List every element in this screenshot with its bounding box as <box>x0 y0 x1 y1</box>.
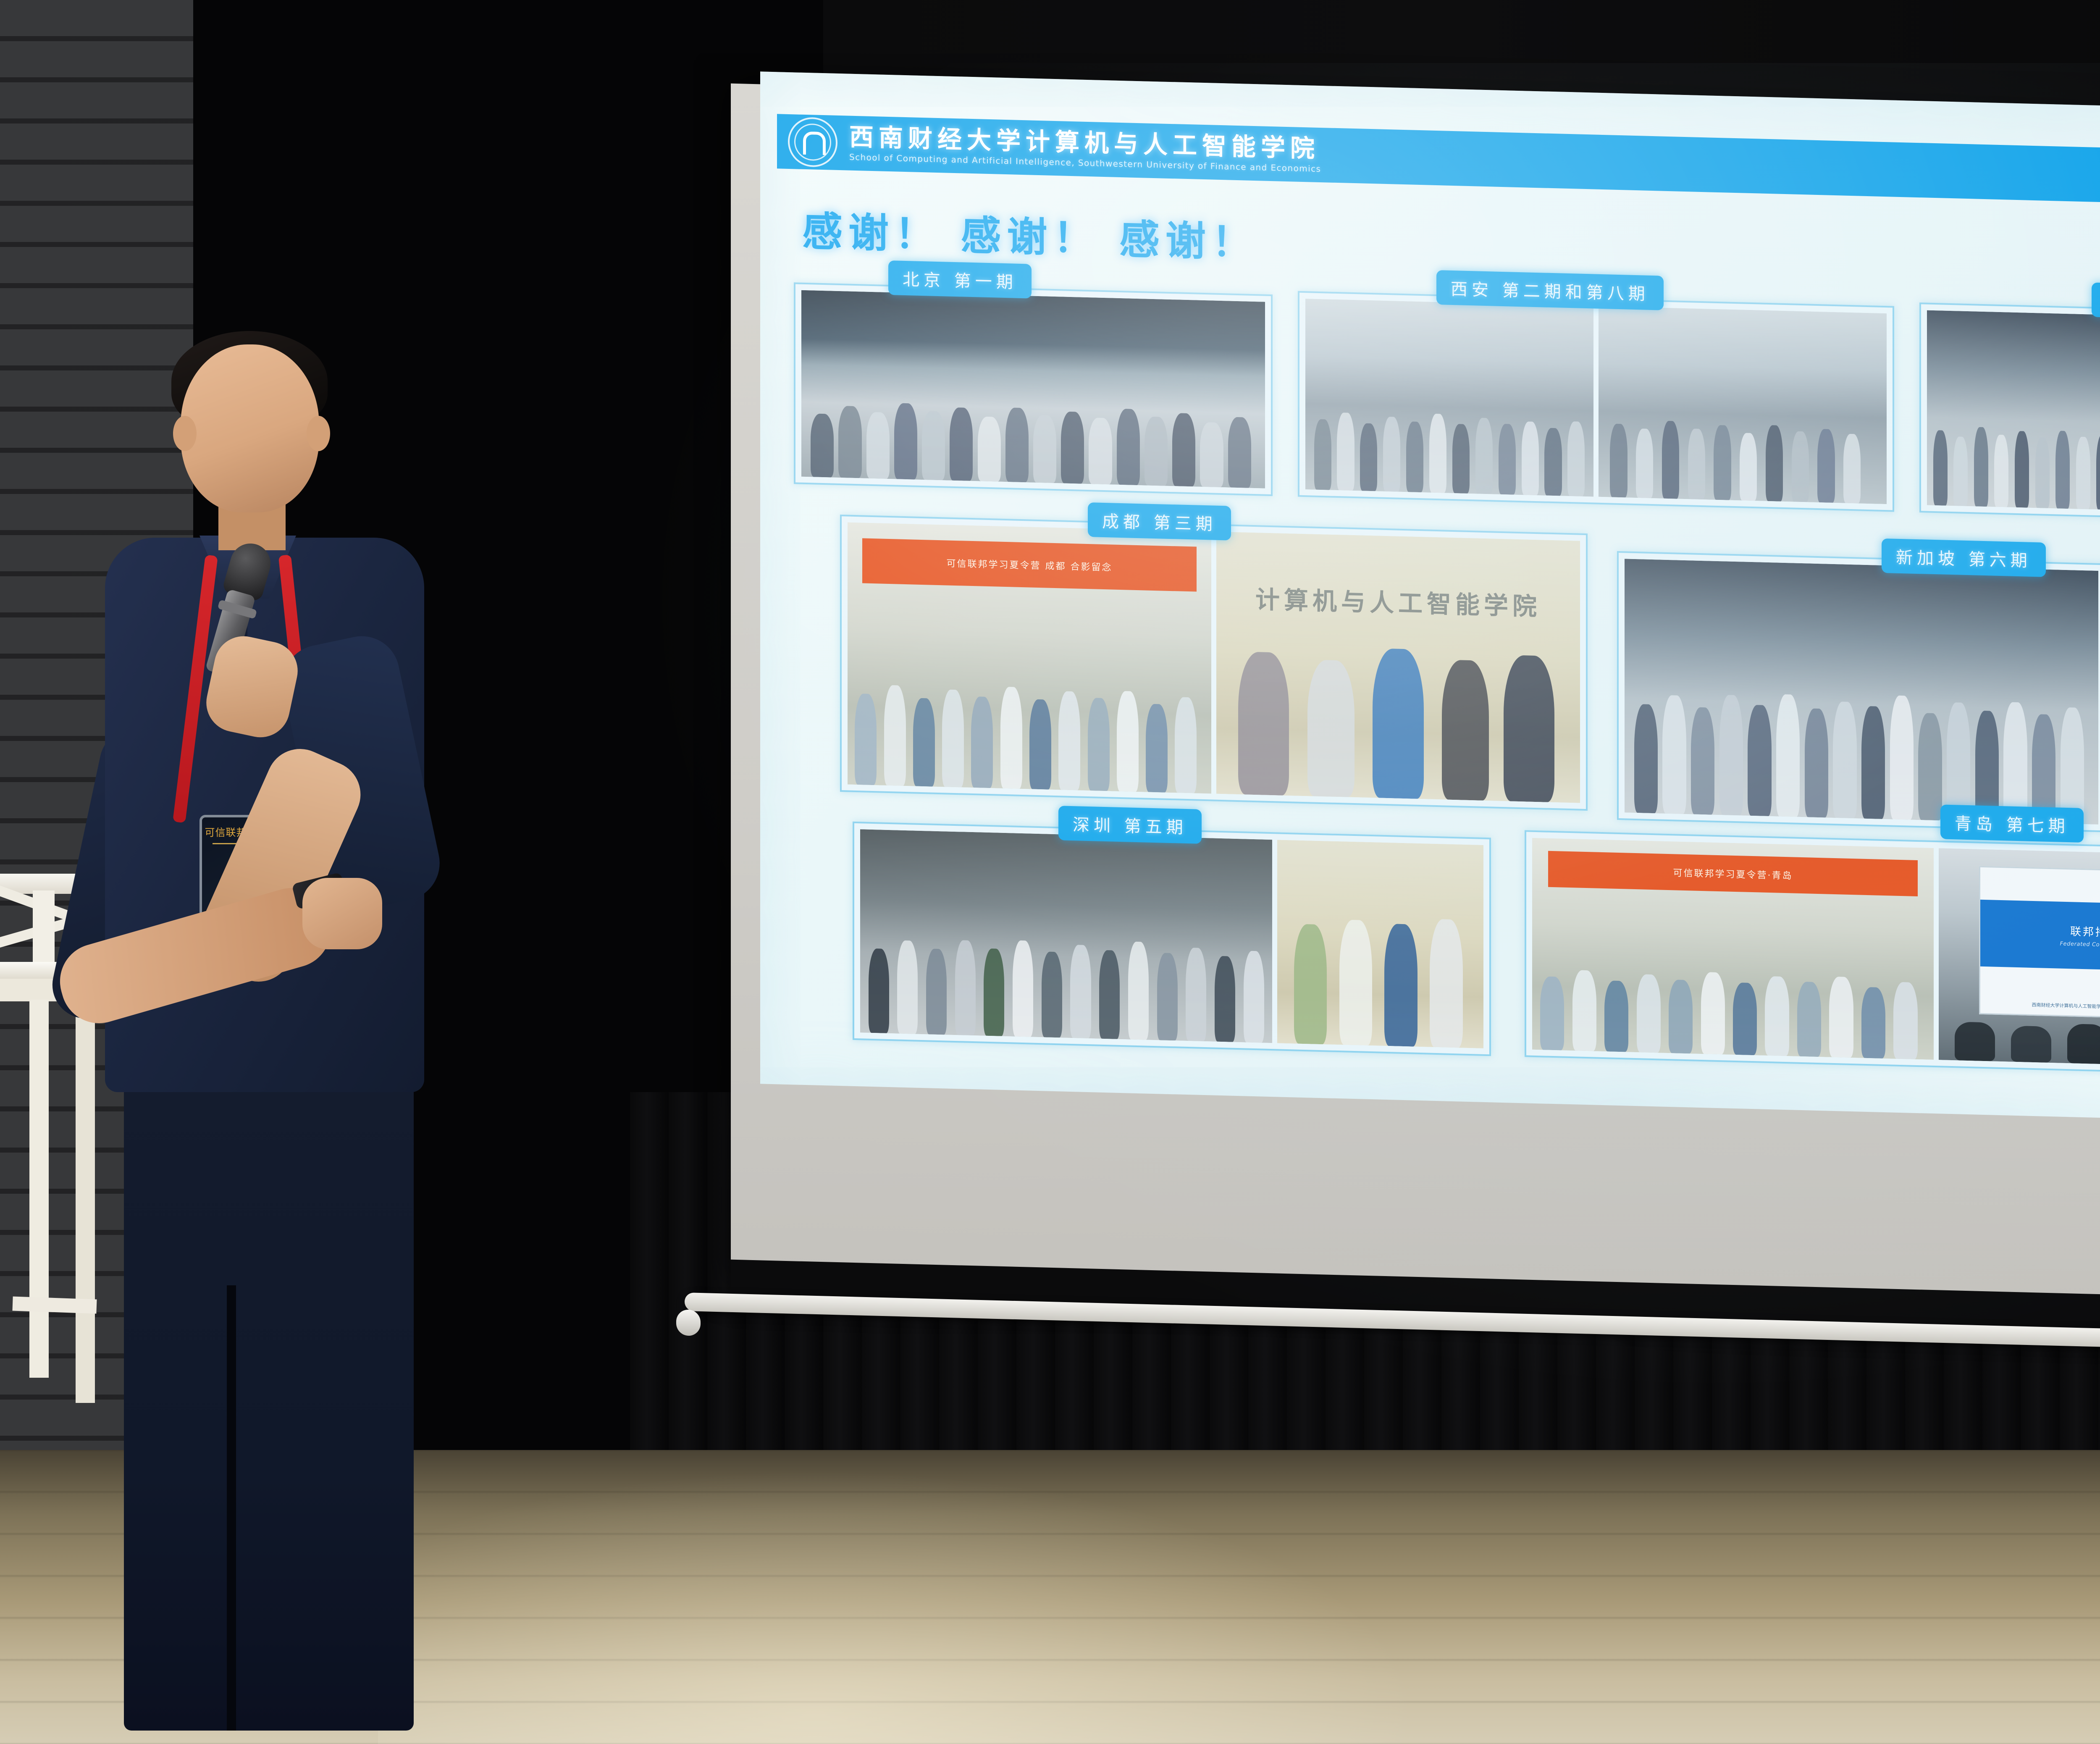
stage-scene: 西南财经大学计算机与人工智能学院 School of Computing and… <box>0 0 2100 1744</box>
presenter-hand-holding-clicker <box>302 878 382 949</box>
presenter-trousers <box>124 1075 414 1731</box>
photo-qingdao-group: 可信联邦学习夏令营·青岛 <box>1532 838 1934 1060</box>
caption-beijing: 北京 第一期 <box>888 260 1032 299</box>
photo-chengdu-guests: 计算机与人工智能学院 <box>1216 532 1580 803</box>
photo-grid: 北京 第一期 <box>794 257 2100 1086</box>
photo-shenzhen-stairs <box>860 829 1272 1043</box>
presenter-ear-right <box>307 416 330 451</box>
photo-chengdu-banner-group: 可信联邦学习夏令营 成都 合影留念 <box>848 523 1211 794</box>
presentation-slide: 西南财经大学计算机与人工智能学院 School of Computing and… <box>760 71 2100 1125</box>
projection-screen: 西南财经大学计算机与人工智能学院 School of Computing and… <box>731 105 2100 1441</box>
trouser-seam <box>227 1285 236 1731</box>
deck-title-en: Federated Continual Learning & Cognitive… <box>2060 941 2100 951</box>
caption-chengdu: 成都 第三期 <box>1088 502 1231 541</box>
caption-hangzhou: 杭州 第四期 <box>2092 283 2100 321</box>
photo-beijing-group <box>801 290 1265 489</box>
floor-light-pool <box>378 1450 1470 1744</box>
photo-hangzhou-group <box>1927 310 2100 510</box>
caption-qingdao: 青岛 第七期 <box>1940 804 2084 843</box>
qingdao-orange-banner: 可信联邦学习夏令营·青岛 <box>1548 851 1918 896</box>
photo-card-hangzhou: 可信联邦学习 夏令营·杭州 <box>1919 302 2100 523</box>
chengdu-wall-text: 计算机与人工智能学院 <box>1238 579 1558 622</box>
photo-card-singapore <box>1617 551 2100 838</box>
photo-xian-group-a <box>1305 299 1593 496</box>
photo-card-beijing <box>794 282 1273 496</box>
slide-header-band: 西南财经大学计算机与人工智能学院 School of Computing and… <box>777 114 2100 208</box>
crowd-figures <box>801 339 1265 488</box>
caption-xian: 西安 第二期和第八期 <box>1436 270 1664 310</box>
presenter-ear-left <box>173 416 197 451</box>
photo-card-xian <box>1298 291 1894 512</box>
caption-singapore: 新加坡 第六期 <box>1882 538 2046 577</box>
university-seal-icon <box>788 117 837 168</box>
deck-title-cn: 联邦持续学习与认知计算 <box>2070 923 2100 942</box>
photo-card-shenzhen <box>853 822 1491 1056</box>
photo-xian-group-b <box>1599 306 1887 504</box>
caption-shenzhen: 深圳 第五期 <box>1058 806 1202 844</box>
photo-card-qingdao: 可信联邦学习夏令营·青岛 <box>1525 830 2100 1078</box>
photo-shenzhen-booth <box>1277 840 1483 1048</box>
photo-card-chengdu: 可信联邦学习夏令营 成都 合影留念 <box>840 515 1588 811</box>
embedded-deck-slide: 联邦持续学习与认知计算 Federated Continual Learning… <box>1979 866 2100 1022</box>
photo-singapore-group <box>1625 559 2098 825</box>
photo-qingdao-talk: 联邦持续学习与认知计算 Federated Continual Learning… <box>1939 848 2100 1070</box>
chengdu-orange-banner: 可信联邦学习夏令营 成都 合影留念 <box>862 538 1197 591</box>
presenter-head <box>181 344 319 512</box>
slide-title: 感谢！ 感谢！ 感谢！ <box>802 199 1258 268</box>
screen-rod-cap-left <box>676 1309 701 1336</box>
presenter: 可信联邦学习秋令营 上海站 杨 新 <box>50 319 538 1744</box>
